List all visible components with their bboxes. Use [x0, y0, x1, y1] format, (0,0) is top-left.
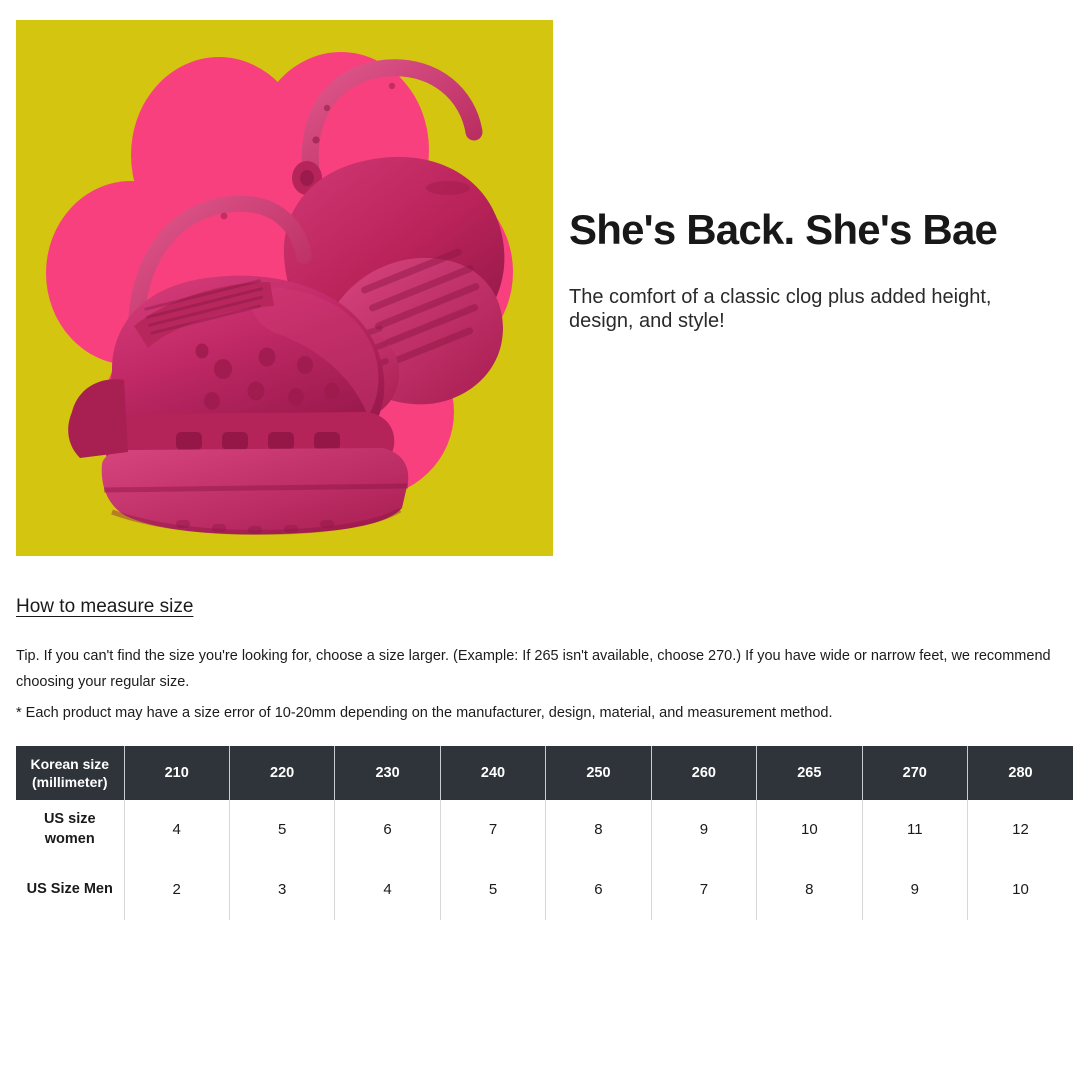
- header-size-260: 260: [651, 746, 756, 800]
- cell-men-250: 6: [546, 860, 651, 920]
- hero-subtitle: The comfort of a classic clog plus added…: [569, 285, 1061, 334]
- how-to-measure-section: How to measure size Tip. If you can't fi…: [16, 596, 1072, 726]
- table-row: US Size Men 2 3 4 5 6 7 8 9 10: [16, 860, 1073, 920]
- measure-tip-paragraph: Tip. If you can't find the size you're l…: [16, 643, 1072, 696]
- header-size-210: 210: [124, 746, 229, 800]
- cell-men-280: 10: [968, 860, 1074, 920]
- header-size-265: 265: [757, 746, 862, 800]
- header-korean-size: Korean size (millimeter): [16, 746, 124, 800]
- cell-men-220: 3: [229, 860, 334, 920]
- header-size-250: 250: [546, 746, 651, 800]
- header-size-230: 230: [335, 746, 440, 800]
- how-to-measure-body: Tip. If you can't find the size you're l…: [16, 643, 1072, 726]
- cell-men-270: 9: [862, 860, 967, 920]
- hero-title: She's Back. She's Bae: [569, 206, 1069, 253]
- cell-women-260: 9: [651, 800, 756, 860]
- header-size-220: 220: [229, 746, 334, 800]
- how-to-measure-heading: How to measure size: [16, 596, 193, 618]
- size-chart-header: Korean size (millimeter) 210 220 230 240…: [16, 746, 1073, 800]
- cell-men-260: 7: [651, 860, 756, 920]
- cell-men-240: 5: [440, 860, 545, 920]
- cell-women-265: 10: [757, 800, 862, 860]
- row-label-us-men: US Size Men: [16, 860, 124, 920]
- cell-men-210: 2: [124, 860, 229, 920]
- size-chart-body: US size women 4 5 6 7 8 9 10 11 12 US Si…: [16, 800, 1073, 920]
- cell-men-230: 4: [335, 860, 440, 920]
- cell-women-280: 12: [968, 800, 1074, 860]
- cell-women-230: 6: [335, 800, 440, 860]
- header-size-270: 270: [862, 746, 967, 800]
- header-size-280: 280: [968, 746, 1074, 800]
- table-header-row: Korean size (millimeter) 210 220 230 240…: [16, 746, 1073, 800]
- cell-women-270: 11: [862, 800, 967, 860]
- row-label-us-women: US size women: [16, 800, 124, 860]
- cell-women-240: 7: [440, 800, 545, 860]
- hero-section: She's Back. She's Bae The comfort of a c…: [0, 0, 1080, 576]
- cell-women-220: 5: [229, 800, 334, 860]
- header-size-240: 240: [440, 746, 545, 800]
- measure-note-paragraph: * Each product may have a size error of …: [16, 700, 1072, 726]
- product-page: She's Back. She's Bae The comfort of a c…: [0, 0, 1080, 1080]
- cell-men-265: 8: [757, 860, 862, 920]
- product-image: [16, 20, 553, 556]
- size-chart-table: Korean size (millimeter) 210 220 230 240…: [16, 746, 1073, 920]
- flower-and-clogs-illustration: [16, 20, 553, 556]
- cell-women-210: 4: [124, 800, 229, 860]
- cell-women-250: 8: [546, 800, 651, 860]
- hero-copy: She's Back. She's Bae The comfort of a c…: [569, 206, 1069, 334]
- table-row: US size women 4 5 6 7 8 9 10 11 12: [16, 800, 1073, 860]
